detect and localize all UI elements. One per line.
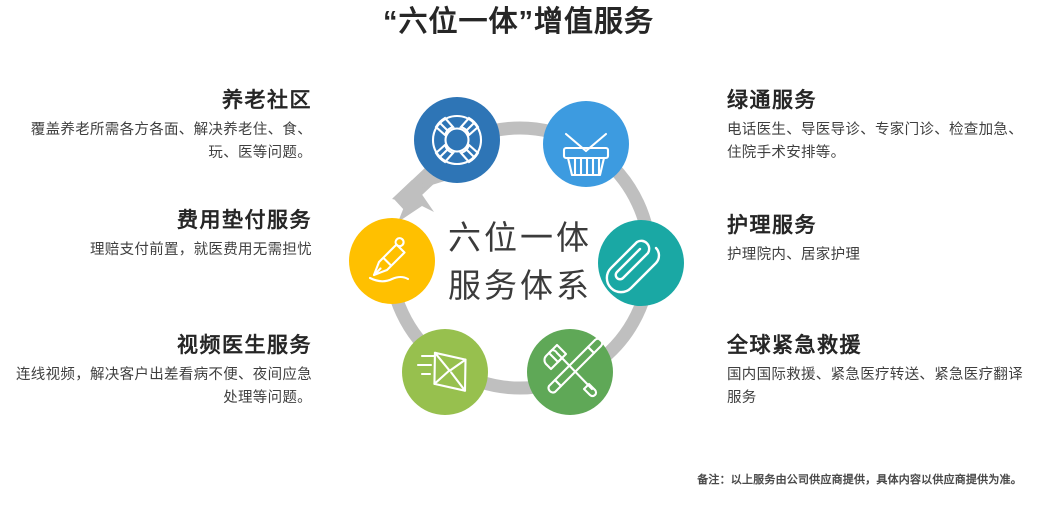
service-item-desc: 国内国际救援、紧急医疗转送、紧急医疗翻译服务	[727, 364, 1027, 410]
service-item-global-rescue: 全球紧急救援 国内国际救援、紧急医疗转送、紧急医疗翻译服务	[727, 331, 1027, 410]
service-item-title: 养老社区	[12, 86, 312, 116]
service-item-title: 护理服务	[727, 211, 1027, 241]
service-item-fee-advance: 费用垫付服务 理赔支付前置，就医费用无需担忧	[12, 206, 312, 262]
service-item-desc: 电话医生、导医导诊、专家门诊、检查加急、住院手术安排等。	[727, 119, 1027, 165]
six-in-one-cycle-diagram: 六位一体 服务体系	[330, 72, 710, 452]
node-envelope[interactable]	[402, 329, 488, 415]
service-item-desc: 连线视频，解决客户出差看病不便、夜间应急处理等问题。	[12, 364, 312, 410]
service-item-title: 费用垫付服务	[12, 206, 312, 236]
service-item-title: 全球紧急救援	[727, 331, 1027, 361]
footnote-disclaimer: 备注：以上服务由公司供应商提供，具体内容以供应商提供为准。	[0, 471, 1022, 487]
node-pen[interactable]	[349, 218, 435, 304]
page-title: “六位一体”增值服务	[0, 2, 1037, 42]
node-basket[interactable]	[543, 101, 629, 187]
service-item-green-channel: 绿通服务 电话医生、导医导诊、专家门诊、检查加急、住院手术安排等。	[727, 86, 1027, 165]
node-tools[interactable]	[527, 329, 613, 415]
service-item-desc: 覆盖养老所需各方各面、解决养老住、食、玩、医等问题。	[12, 119, 312, 165]
node-lifebuoy[interactable]	[414, 97, 500, 183]
service-item-video-doctor: 视频医生服务 连线视频，解决客户出差看病不便、夜间应急处理等问题。	[12, 331, 312, 410]
service-item-nursing: 护理服务 护理院内、居家护理	[727, 211, 1027, 267]
node-paperclip[interactable]	[598, 220, 684, 306]
service-item-title: 绿通服务	[727, 86, 1027, 116]
service-item-desc: 护理院内、居家护理	[727, 244, 1027, 267]
service-item-elderly-community: 养老社区 覆盖养老所需各方各面、解决养老住、食、玩、医等问题。	[12, 86, 312, 165]
service-item-title: 视频医生服务	[12, 331, 312, 361]
service-item-desc: 理赔支付前置，就医费用无需担忧	[12, 239, 312, 262]
